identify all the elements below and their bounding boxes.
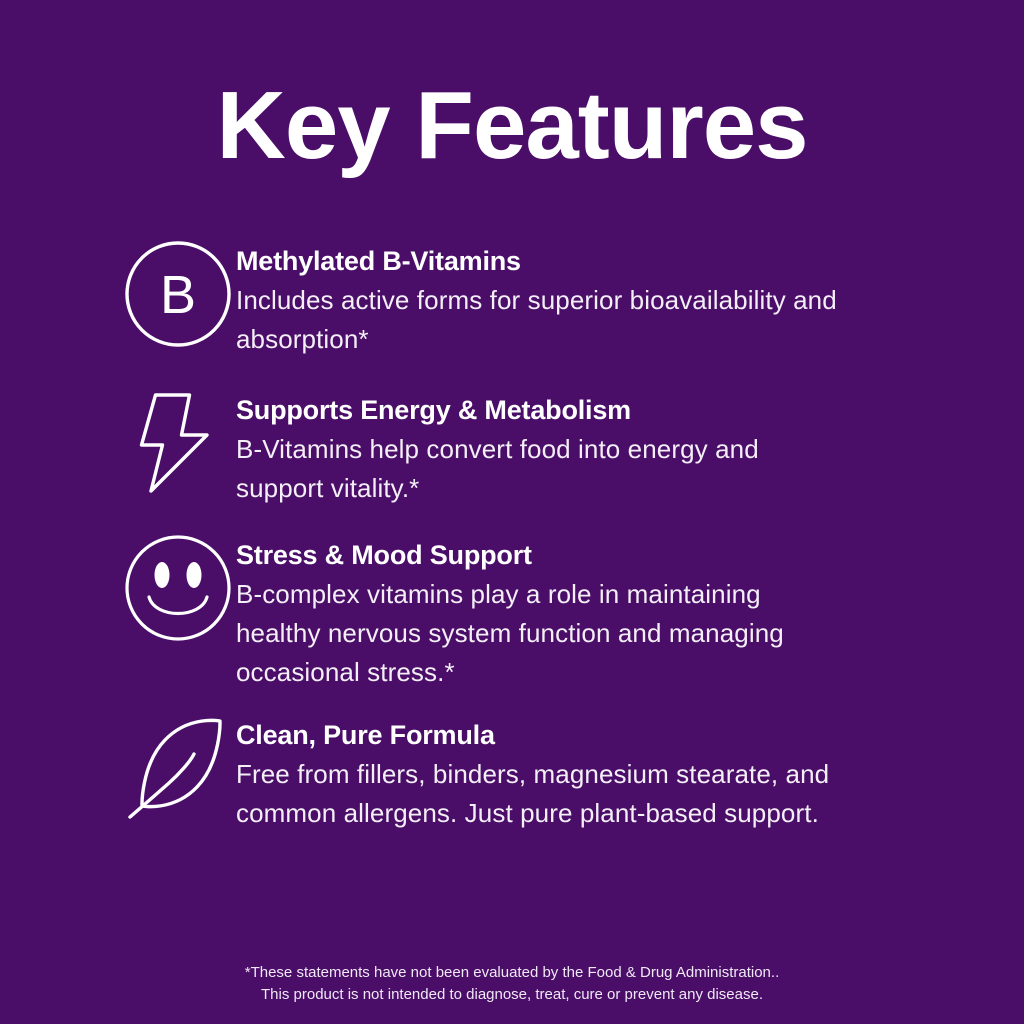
disclaimer-line-2: This product is not intended to diagnose…: [0, 984, 1024, 1006]
feature-text: Methylated B-Vitamins Includes active fo…: [236, 238, 852, 359]
feature-item-stress-mood-support: Stress & Mood Support B-complex vitamins…: [0, 532, 1024, 692]
feature-heading: Supports Energy & Metabolism: [236, 393, 852, 427]
leaf-icon: [124, 714, 236, 826]
disclaimer-footer: *These statements have not been evaluate…: [0, 962, 1024, 1006]
key-features-poster: Key Features B Methylated B-Vitamins Inc…: [0, 0, 1024, 1024]
feature-heading: Stress & Mood Support: [236, 538, 852, 572]
lightning-bolt-icon: [124, 389, 236, 501]
feature-body: B-complex vitamins play a role in mainta…: [236, 575, 852, 692]
feature-text: Stress & Mood Support B-complex vitamins…: [236, 532, 852, 692]
feature-body: Includes active forms for superior bioav…: [236, 281, 852, 359]
smiley-face-icon: [124, 534, 236, 646]
feature-body: B-Vitamins help convert food into energy…: [236, 430, 852, 508]
disclaimer-line-1: *These statements have not been evaluate…: [0, 962, 1024, 984]
feature-list: B Methylated B-Vitamins Includes active …: [0, 238, 1024, 833]
feature-heading: Clean, Pure Formula: [236, 718, 852, 752]
svg-text:B: B: [160, 265, 196, 325]
feature-text: Clean, Pure Formula Free from fillers, b…: [236, 712, 852, 833]
feature-item-methylated-b-vitamins: B Methylated B-Vitamins Includes active …: [0, 238, 1024, 359]
circle-b-icon: B: [124, 240, 236, 352]
feature-body: Free from fillers, binders, magnesium st…: [236, 755, 852, 833]
feature-heading: Methylated B-Vitamins: [236, 244, 852, 278]
feature-item-supports-energy-metabolism: Supports Energy & Metabolism B-Vitamins …: [0, 387, 1024, 508]
feature-text: Supports Energy & Metabolism B-Vitamins …: [236, 387, 852, 508]
feature-item-clean-pure-formula: Clean, Pure Formula Free from fillers, b…: [0, 712, 1024, 833]
page-title: Key Features: [0, 74, 1024, 178]
